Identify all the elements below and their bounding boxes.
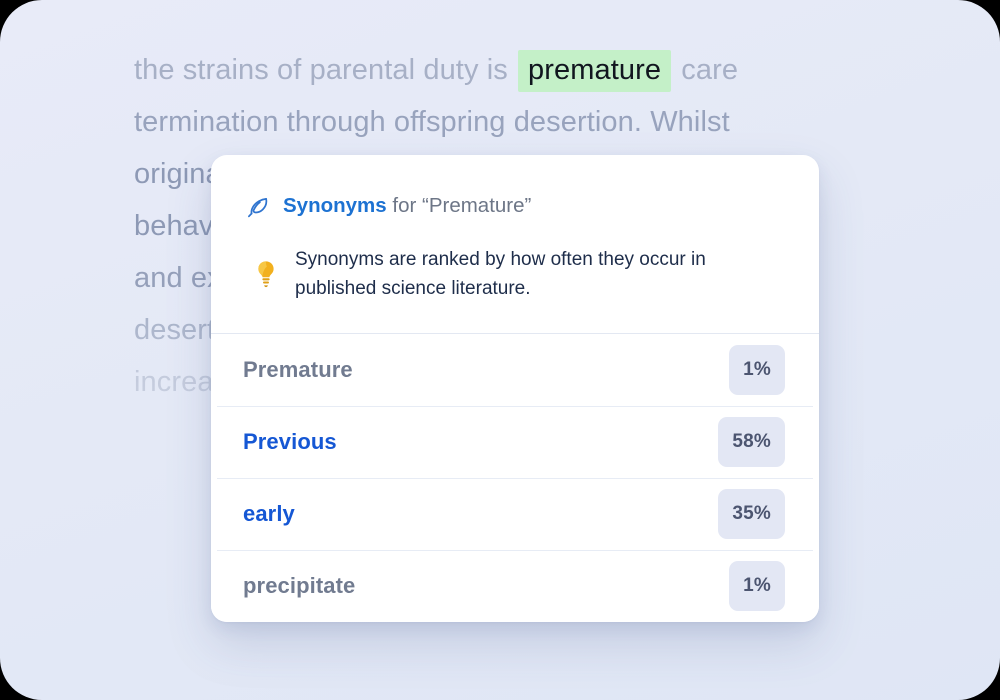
article-line-post: care	[673, 54, 738, 86]
lightbulb-icon	[253, 259, 279, 289]
article-line: termination through offspring desertion.…	[134, 96, 880, 148]
synonym-word[interactable]: precipitate	[243, 573, 355, 599]
synonym-word[interactable]: Premature	[243, 357, 353, 383]
synonym-list: Premature 1% Previous 58% early 35% prec…	[211, 334, 819, 622]
synonym-frequency-badge: 35%	[718, 489, 785, 539]
synonym-row[interactable]: early 35%	[211, 478, 819, 550]
popover-title: Synonyms for “Premature”	[283, 193, 531, 219]
synonym-frequency-badge: 1%	[729, 345, 785, 395]
synonym-row[interactable]: precipitate 1%	[211, 550, 819, 622]
popover-hint-row: Synonyms are ranked by how often they oc…	[245, 245, 785, 303]
synonym-frequency-badge: 1%	[729, 561, 785, 611]
popover-title-row: Synonyms for “Premature”	[245, 193, 785, 219]
synonyms-popover: Synonyms for “Premature” Synonyms are ra…	[211, 155, 819, 622]
synonym-word[interactable]: Previous	[243, 429, 337, 455]
synonym-frequency-badge: 58%	[718, 417, 785, 467]
article-line: the strains of parental duty is prematur…	[134, 44, 880, 96]
highlighted-word[interactable]: premature	[518, 50, 671, 92]
popover-header: Synonyms for “Premature” Synonyms are ra…	[211, 155, 819, 333]
popover-title-strong: Synonyms	[283, 194, 387, 217]
app-viewport: the strains of parental duty is prematur…	[0, 0, 1000, 700]
popover-hint-text: Synonyms are ranked by how often they oc…	[295, 245, 747, 303]
synonym-word[interactable]: early	[243, 501, 295, 527]
feather-icon	[245, 194, 271, 220]
article-line-pre: the strains of parental duty is	[134, 54, 516, 86]
synonym-row[interactable]: Premature 1%	[211, 334, 819, 406]
synonym-row[interactable]: Previous 58%	[211, 406, 819, 478]
popover-title-rest: for “Premature”	[387, 194, 532, 217]
